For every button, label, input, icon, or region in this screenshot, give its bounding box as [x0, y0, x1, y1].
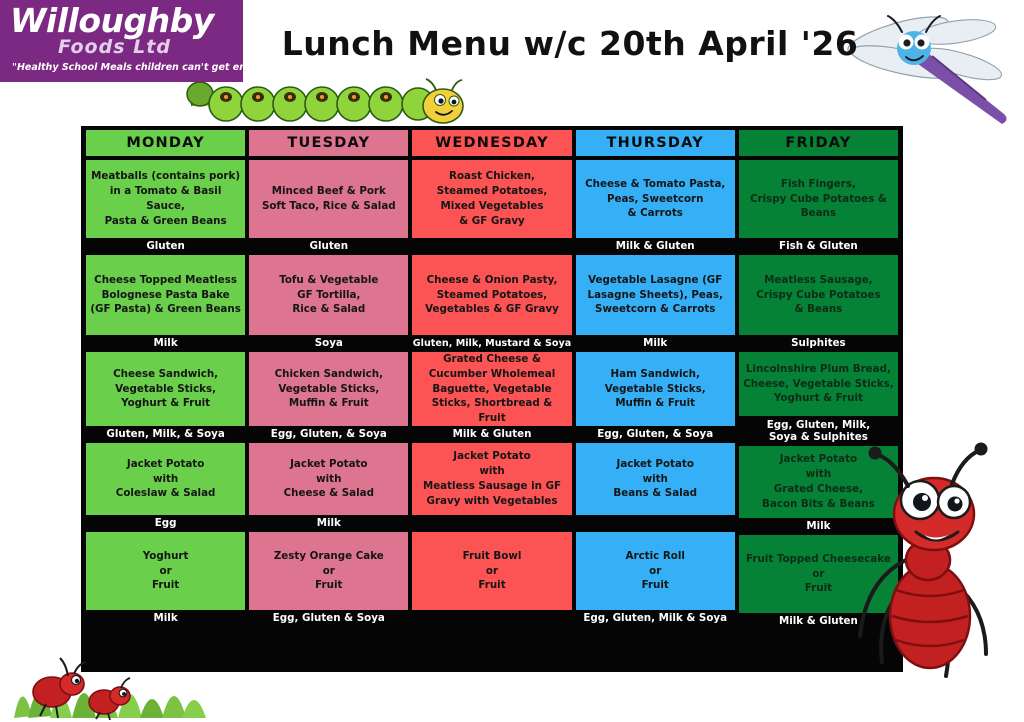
day-header-wednesday: WEDNESDAY — [412, 130, 571, 156]
menu-cell[interactable]: Zesty Orange Cake or Fruit — [249, 532, 408, 610]
allergen-label: Egg, Gluten, Milk, Soya & Sulphites — [739, 416, 898, 446]
menu-row-main-friday[interactable]: Fish Fingers, Crispy Cube Potatoes & Bea… — [739, 160, 898, 255]
menu-poster: Willoughby Foods Ltd "Healthy School Mea… — [0, 0, 1024, 722]
allergen-label: Milk & Gluten — [739, 613, 898, 630]
caterpillar-icon — [178, 78, 468, 128]
menu-row-jacket-thursday[interactable]: Jacket Potato with Beans & Salad — [576, 443, 735, 532]
menu-row-jacket-tuesday[interactable]: Jacket Potato with Cheese & Salad Milk — [249, 443, 408, 532]
day-header-tuesday: TUESDAY — [249, 130, 408, 156]
menu-row-dessert-tuesday[interactable]: Zesty Orange Cake or Fruit Egg, Gluten &… — [249, 532, 408, 627]
menu-row-sandwich-friday[interactable]: Lincolnshire Plum Bread, Cheese, Vegetab… — [739, 352, 898, 446]
allergen-label: Egg — [86, 515, 245, 532]
allergen-label: Milk & Gluten — [412, 426, 571, 443]
menu-cell[interactable]: Chicken Sandwich, Vegetable Sticks, Muff… — [249, 352, 408, 426]
allergen-label: Gluten, Milk, & Soya — [86, 426, 245, 443]
menu-cell[interactable]: Cheese Sandwich, Vegetable Sticks, Yoghu… — [86, 352, 245, 426]
menu-row-dessert-thursday[interactable]: Arctic Roll or Fruit Egg, Gluten, Milk &… — [576, 532, 735, 627]
allergen-label: Egg, Gluten, Milk & Soya — [576, 610, 735, 627]
allergen-label: Gluten, Milk, Mustard & Soya — [412, 335, 571, 352]
menu-column-tuesday: TUESDAY Minced Beef & Pork Soft Taco, Ri… — [249, 130, 408, 670]
allergen-label: Milk & Gluten — [576, 238, 735, 255]
menu-row-jacket-friday[interactable]: Jacket Potato with Grated Cheese, Bacon … — [739, 446, 898, 535]
menu-cell[interactable]: Yoghurt or Fruit — [86, 532, 245, 610]
menu-cell[interactable]: Roast Chicken, Steamed Potatoes, Mixed V… — [412, 160, 571, 238]
allergen-label: Gluten — [249, 238, 408, 255]
menu-row-veg-wednesday[interactable]: Cheese & Onion Pasty, Steamed Potatoes, … — [412, 255, 571, 352]
menu-row-sandwich-wednesday[interactable]: Grated Cheese & Cucumber Wholemeal Bague… — [412, 352, 571, 443]
menu-cell[interactable]: Jacket Potato with Cheese & Salad — [249, 443, 408, 515]
day-header-thursday: THURSDAY — [576, 130, 735, 156]
day-header-friday: FRIDAY — [739, 130, 898, 156]
allergen-label — [412, 238, 571, 255]
menu-cell[interactable]: Cheese & Onion Pasty, Steamed Potatoes, … — [412, 255, 571, 335]
allergen-label — [412, 515, 571, 532]
allergen-label: Milk — [576, 335, 735, 352]
logo-brand-sub: Foods Ltd — [58, 36, 171, 58]
day-header-monday: MONDAY — [86, 130, 245, 156]
menu-cell[interactable]: Jacket Potato with Beans & Salad — [576, 443, 735, 515]
menu-cell[interactable]: Grated Cheese & Cucumber Wholemeal Bague… — [412, 352, 571, 426]
menu-row-main-monday[interactable]: Meatballs (contains pork) in a Tomato & … — [86, 160, 245, 255]
menu-row-main-thursday[interactable]: Cheese & Tomato Pasta, Peas, Sweetcorn &… — [576, 160, 735, 255]
dragonfly-icon — [836, 2, 1016, 137]
allergen-label: Gluten — [86, 238, 245, 255]
menu-cell[interactable]: Fruit Topped Cheesecake or Fruit — [739, 535, 898, 613]
menu-cell[interactable]: Lincolnshire Plum Bread, Cheese, Vegetab… — [739, 352, 898, 416]
allergen-label: Milk — [249, 515, 408, 532]
menu-cell[interactable]: Tofu & Vegetable GF Tortilla, Rice & Sal… — [249, 255, 408, 335]
menu-row-main-tuesday[interactable]: Minced Beef & Pork Soft Taco, Rice & Sal… — [249, 160, 408, 255]
menu-row-veg-friday[interactable]: Meatless Sausage, Crispy Cube Potatoes &… — [739, 255, 898, 352]
menu-row-veg-monday[interactable]: Cheese Topped Meatless Bolognese Pasta B… — [86, 255, 245, 352]
menu-cell[interactable]: Ham Sandwich, Vegetable Sticks, Muffin &… — [576, 352, 735, 426]
menu-row-dessert-monday[interactable]: Yoghurt or Fruit Milk — [86, 532, 245, 627]
allergen-label: Soya — [249, 335, 408, 352]
menu-cell[interactable]: Arctic Roll or Fruit — [576, 532, 735, 610]
allergen-label: Fish & Gluten — [739, 238, 898, 255]
menu-column-thursday: THURSDAY Cheese & Tomato Pasta, Peas, Sw… — [576, 130, 735, 670]
menu-row-jacket-wednesday[interactable]: Jacket Potato with Meatless Sausage in G… — [412, 443, 571, 532]
menu-row-veg-thursday[interactable]: Vegetable Lasagne (GF Lasagne Sheets), P… — [576, 255, 735, 352]
menu-row-sandwich-thursday[interactable]: Ham Sandwich, Vegetable Sticks, Muffin &… — [576, 352, 735, 443]
allergen-label: Milk — [86, 335, 245, 352]
menu-cell[interactable]: Fruit Bowl or Fruit — [412, 532, 571, 610]
menu-board: MONDAY Meatballs (contains pork) in a To… — [81, 126, 903, 672]
allergen-label: Milk — [86, 610, 245, 627]
menu-columns: MONDAY Meatballs (contains pork) in a To… — [86, 130, 898, 670]
menu-cell[interactable]: Jacket Potato with Coleslaw & Salad — [86, 443, 245, 515]
menu-cell[interactable]: Meatless Sausage, Crispy Cube Potatoes &… — [739, 255, 898, 335]
logo-tagline: "Healthy School Meals children can't get… — [12, 62, 234, 73]
menu-cell[interactable]: Vegetable Lasagne (GF Lasagne Sheets), P… — [576, 255, 735, 335]
menu-cell[interactable]: Fish Fingers, Crispy Cube Potatoes & Bea… — [739, 160, 898, 238]
menu-row-veg-tuesday[interactable]: Tofu & Vegetable GF Tortilla, Rice & Sal… — [249, 255, 408, 352]
allergen-label: Egg, Gluten, & Soya — [249, 426, 408, 443]
menu-cell[interactable]: Jacket Potato with Grated Cheese, Bacon … — [739, 446, 898, 518]
allergen-label — [576, 515, 735, 532]
company-logo: Willoughby Foods Ltd "Healthy School Mea… — [0, 0, 243, 82]
menu-row-dessert-wednesday[interactable]: Fruit Bowl or Fruit — [412, 532, 571, 627]
page-title: Lunch Menu w/c 20th April '26 — [260, 24, 880, 63]
menu-row-jacket-monday[interactable]: Jacket Potato with Coleslaw & Salad Egg — [86, 443, 245, 532]
allergen-label: Egg, Gluten, & Soya — [576, 426, 735, 443]
allergen-label — [412, 610, 571, 627]
allergen-label: Egg, Gluten & Soya — [249, 610, 408, 627]
menu-column-friday: FRIDAY Fish Fingers, Crispy Cube Potatoe… — [739, 130, 898, 670]
menu-cell[interactable]: Minced Beef & Pork Soft Taco, Rice & Sal… — [249, 160, 408, 238]
menu-row-sandwich-monday[interactable]: Cheese Sandwich, Vegetable Sticks, Yoghu… — [86, 352, 245, 443]
menu-cell[interactable]: Cheese Topped Meatless Bolognese Pasta B… — [86, 255, 245, 335]
allergen-label: Milk — [739, 518, 898, 535]
menu-cell[interactable]: Cheese & Tomato Pasta, Peas, Sweetcorn &… — [576, 160, 735, 238]
menu-row-sandwich-tuesday[interactable]: Chicken Sandwich, Vegetable Sticks, Muff… — [249, 352, 408, 443]
logo-brand-name: Willoughby — [10, 4, 235, 37]
menu-cell[interactable]: Meatballs (contains pork) in a Tomato & … — [86, 160, 245, 238]
menu-cell[interactable]: Jacket Potato with Meatless Sausage in G… — [412, 443, 571, 515]
allergen-label: Sulphites — [739, 335, 898, 352]
menu-column-wednesday: WEDNESDAY Roast Chicken, Steamed Potatoe… — [412, 130, 571, 670]
menu-row-main-wednesday[interactable]: Roast Chicken, Steamed Potatoes, Mixed V… — [412, 160, 571, 255]
menu-column-monday: MONDAY Meatballs (contains pork) in a To… — [86, 130, 245, 670]
menu-row-dessert-friday[interactable]: Fruit Topped Cheesecake or Fruit Milk & … — [739, 535, 898, 630]
